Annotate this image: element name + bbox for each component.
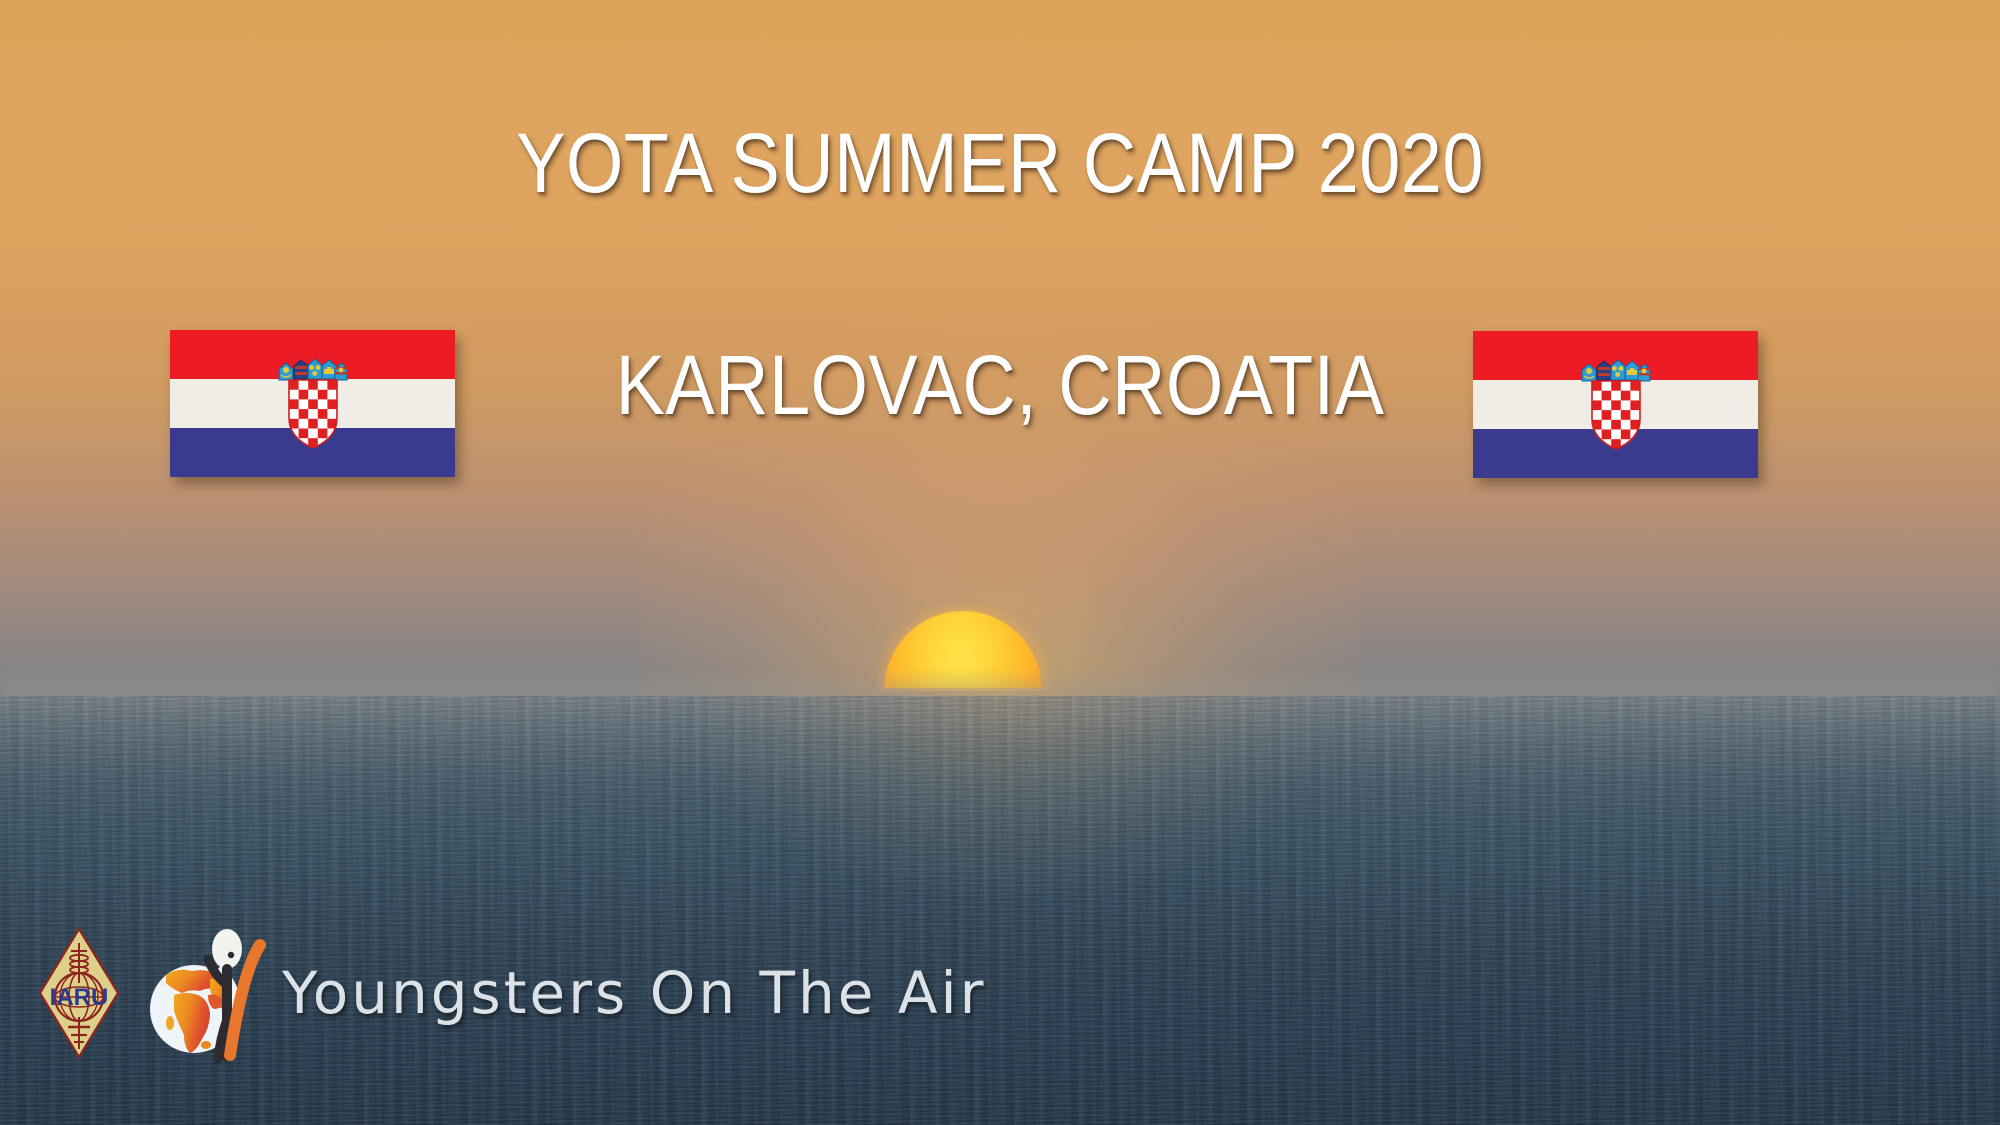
location-subtitle: KARLOVAC, CROATIA xyxy=(120,337,1880,434)
yota-tagline: Youngsters On The Air xyxy=(282,959,986,1027)
poster-canvas: YOTA SUMMER CAMP 2020 KARLOVAC, CROATIA xyxy=(0,0,2000,1125)
iaru-logo-icon: IARU xyxy=(38,927,120,1059)
iaru-wordmark: IARU xyxy=(50,984,109,1011)
yota-globe-figure-icon xyxy=(148,923,266,1063)
page-title: YOTA SUMMER CAMP 2020 xyxy=(120,115,1880,212)
branding-bar: IARU xyxy=(38,918,986,1068)
